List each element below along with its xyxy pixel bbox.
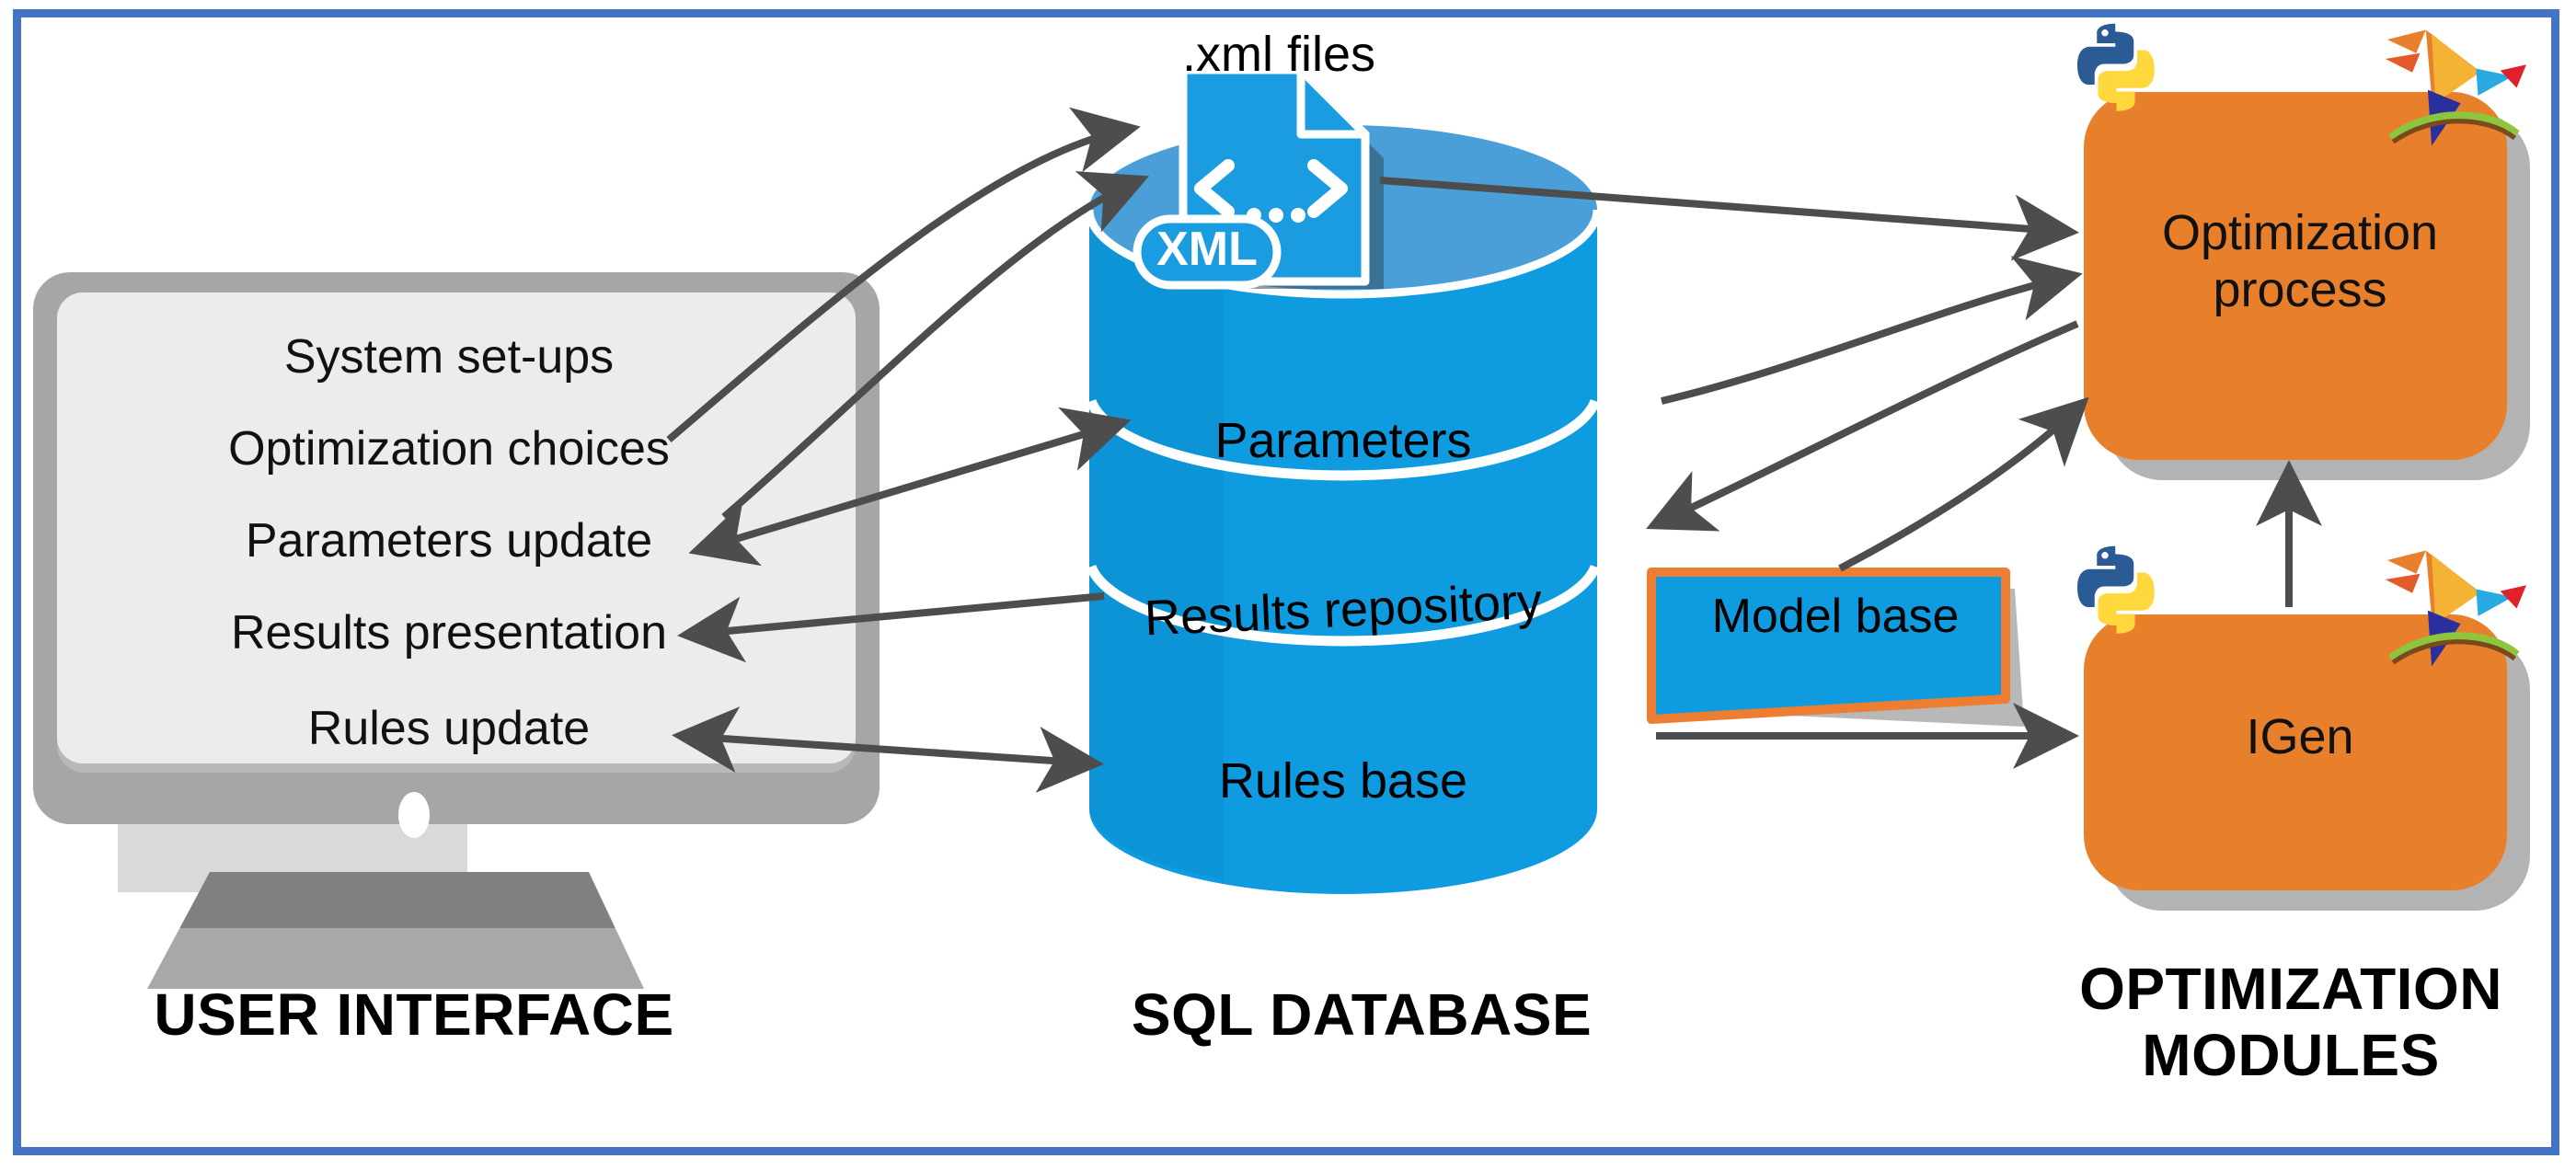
diagram-canvas: XML [0, 0, 2576, 1170]
arrow-optimization-to-db [1656, 324, 2077, 524]
db-band-parameters: Parameters [1049, 412, 1638, 469]
ui-item-results-presentation[interactable]: Results presentation [35, 605, 863, 660]
db-band-rules-base: Rules base [1049, 752, 1638, 809]
ui-item-optimization-choices[interactable]: Optimization choices [35, 421, 863, 476]
section-label-user-interface: USER INTERFACE [55, 982, 773, 1049]
ui-item-rules-update[interactable]: Rules update [35, 701, 863, 756]
model-base-label: Model base [1661, 589, 2010, 644]
xml-files-caption: .xml files [1086, 26, 1472, 83]
arrow-db-to-optimization [1662, 276, 2072, 401]
optimization-process-label: Optimization process [2107, 204, 2493, 318]
svg-text:XML: XML [1156, 223, 1258, 276]
igen-label: IGen [2107, 708, 2493, 765]
section-label-optimization-modules: OPTIMIZATION MODULES [2006, 957, 2576, 1088]
ui-item-system-setups[interactable]: System set-ups [35, 329, 863, 384]
ui-item-parameters-update[interactable]: Parameters update [35, 513, 863, 568]
arrow-modelbase-to-optimization [1840, 405, 2081, 568]
section-label-sql-database: SQL DATABASE [1012, 982, 1711, 1049]
